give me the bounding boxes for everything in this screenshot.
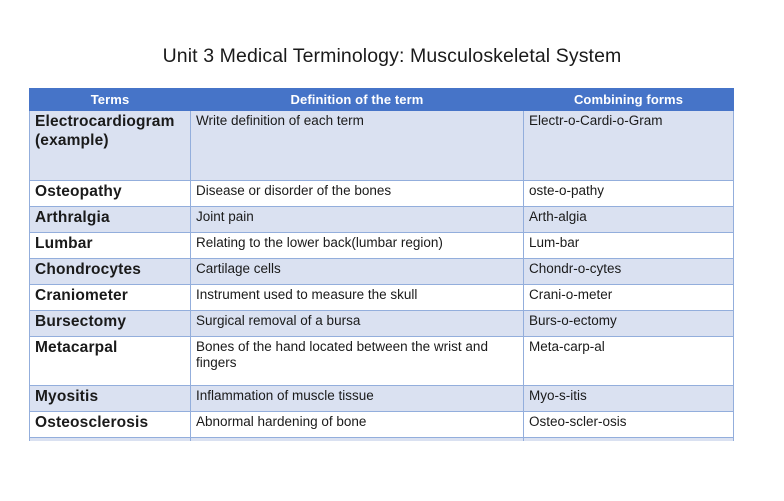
cell-definition: Inflammation of muscle tissue bbox=[191, 386, 524, 412]
cell-definition: Instrument used to measure the skull bbox=[191, 285, 524, 311]
slide-bottom-clip bbox=[0, 441, 784, 501]
terminology-table: Terms Definition of the term Combining f… bbox=[29, 88, 734, 490]
slide-canvas: Unit 3 Medical Terminology: Musculoskele… bbox=[0, 0, 784, 441]
table-row: BursectomySurgical removal of a bursaBur… bbox=[30, 311, 734, 337]
cell-term: Craniometer bbox=[30, 285, 191, 311]
cell-term: Osteosclerosis bbox=[30, 412, 191, 438]
cell-combining-form: Arth-algia bbox=[524, 207, 734, 233]
cell-combining-form: oste-o-pathy bbox=[524, 181, 734, 207]
cell-definition: Disease or disorder of the bones bbox=[191, 181, 524, 207]
table-row: ArthralgiaJoint painArth-algia bbox=[30, 207, 734, 233]
cell-definition: Joint pain bbox=[191, 207, 524, 233]
cell-combining-form: Myo-s-itis bbox=[524, 386, 734, 412]
cell-definition: Relating to the lower back(lumbar region… bbox=[191, 233, 524, 259]
table-row: ChondrocytesCartilage cellsChondr-o-cyte… bbox=[30, 259, 734, 285]
cell-term: Metacarpal bbox=[30, 337, 191, 386]
cell-definition: Abnormal hardening of bone bbox=[191, 412, 524, 438]
table-row: MetacarpalBones of the hand located betw… bbox=[30, 337, 734, 386]
table-row: LumbarRelating to the lower back(lumbar … bbox=[30, 233, 734, 259]
table-row: OsteopathyDisease or disorder of the bon… bbox=[30, 181, 734, 207]
cell-term: Myositis bbox=[30, 386, 191, 412]
table-header: Terms Definition of the term Combining f… bbox=[30, 89, 734, 111]
cell-combining-form: Chondr-o-cytes bbox=[524, 259, 734, 285]
table-body: Electrocardiogram (example)Write definit… bbox=[30, 111, 734, 490]
cell-definition: Surgical removal of a bursa bbox=[191, 311, 524, 337]
table-row: MyositisInflammation of muscle tissueMyo… bbox=[30, 386, 734, 412]
table-row: OsteosclerosisAbnormal hardening of bone… bbox=[30, 412, 734, 438]
cell-combining-form: Lum-bar bbox=[524, 233, 734, 259]
column-header-terms: Terms bbox=[30, 89, 191, 111]
column-header-definition: Definition of the term bbox=[191, 89, 524, 111]
cell-term: Lumbar bbox=[30, 233, 191, 259]
table-header-row: Terms Definition of the term Combining f… bbox=[30, 89, 734, 111]
cell-definition: Write definition of each term bbox=[191, 111, 524, 181]
cell-definition: Bones of the hand located between the wr… bbox=[191, 337, 524, 386]
cell-combining-form: Burs-o-ectomy bbox=[524, 311, 734, 337]
column-header-combining-forms: Combining forms bbox=[524, 89, 734, 111]
cell-definition: Cartilage cells bbox=[191, 259, 524, 285]
cell-term: Electrocardiogram (example) bbox=[30, 111, 191, 181]
cell-combining-form: Osteo-scler-osis bbox=[524, 412, 734, 438]
cell-term: Chondrocytes bbox=[30, 259, 191, 285]
table-row: CraniometerInstrument used to measure th… bbox=[30, 285, 734, 311]
cell-term: Osteopathy bbox=[30, 181, 191, 207]
cell-combining-form: Electr-o-Cardi-o-Gram bbox=[524, 111, 734, 181]
cell-combining-form: Meta-carp-al bbox=[524, 337, 734, 386]
page-title: Unit 3 Medical Terminology: Musculoskele… bbox=[0, 45, 784, 68]
cell-term: Bursectomy bbox=[30, 311, 191, 337]
cell-combining-form: Crani-o-meter bbox=[524, 285, 734, 311]
cell-term: Arthralgia bbox=[30, 207, 191, 233]
table-row: Electrocardiogram (example)Write definit… bbox=[30, 111, 734, 181]
